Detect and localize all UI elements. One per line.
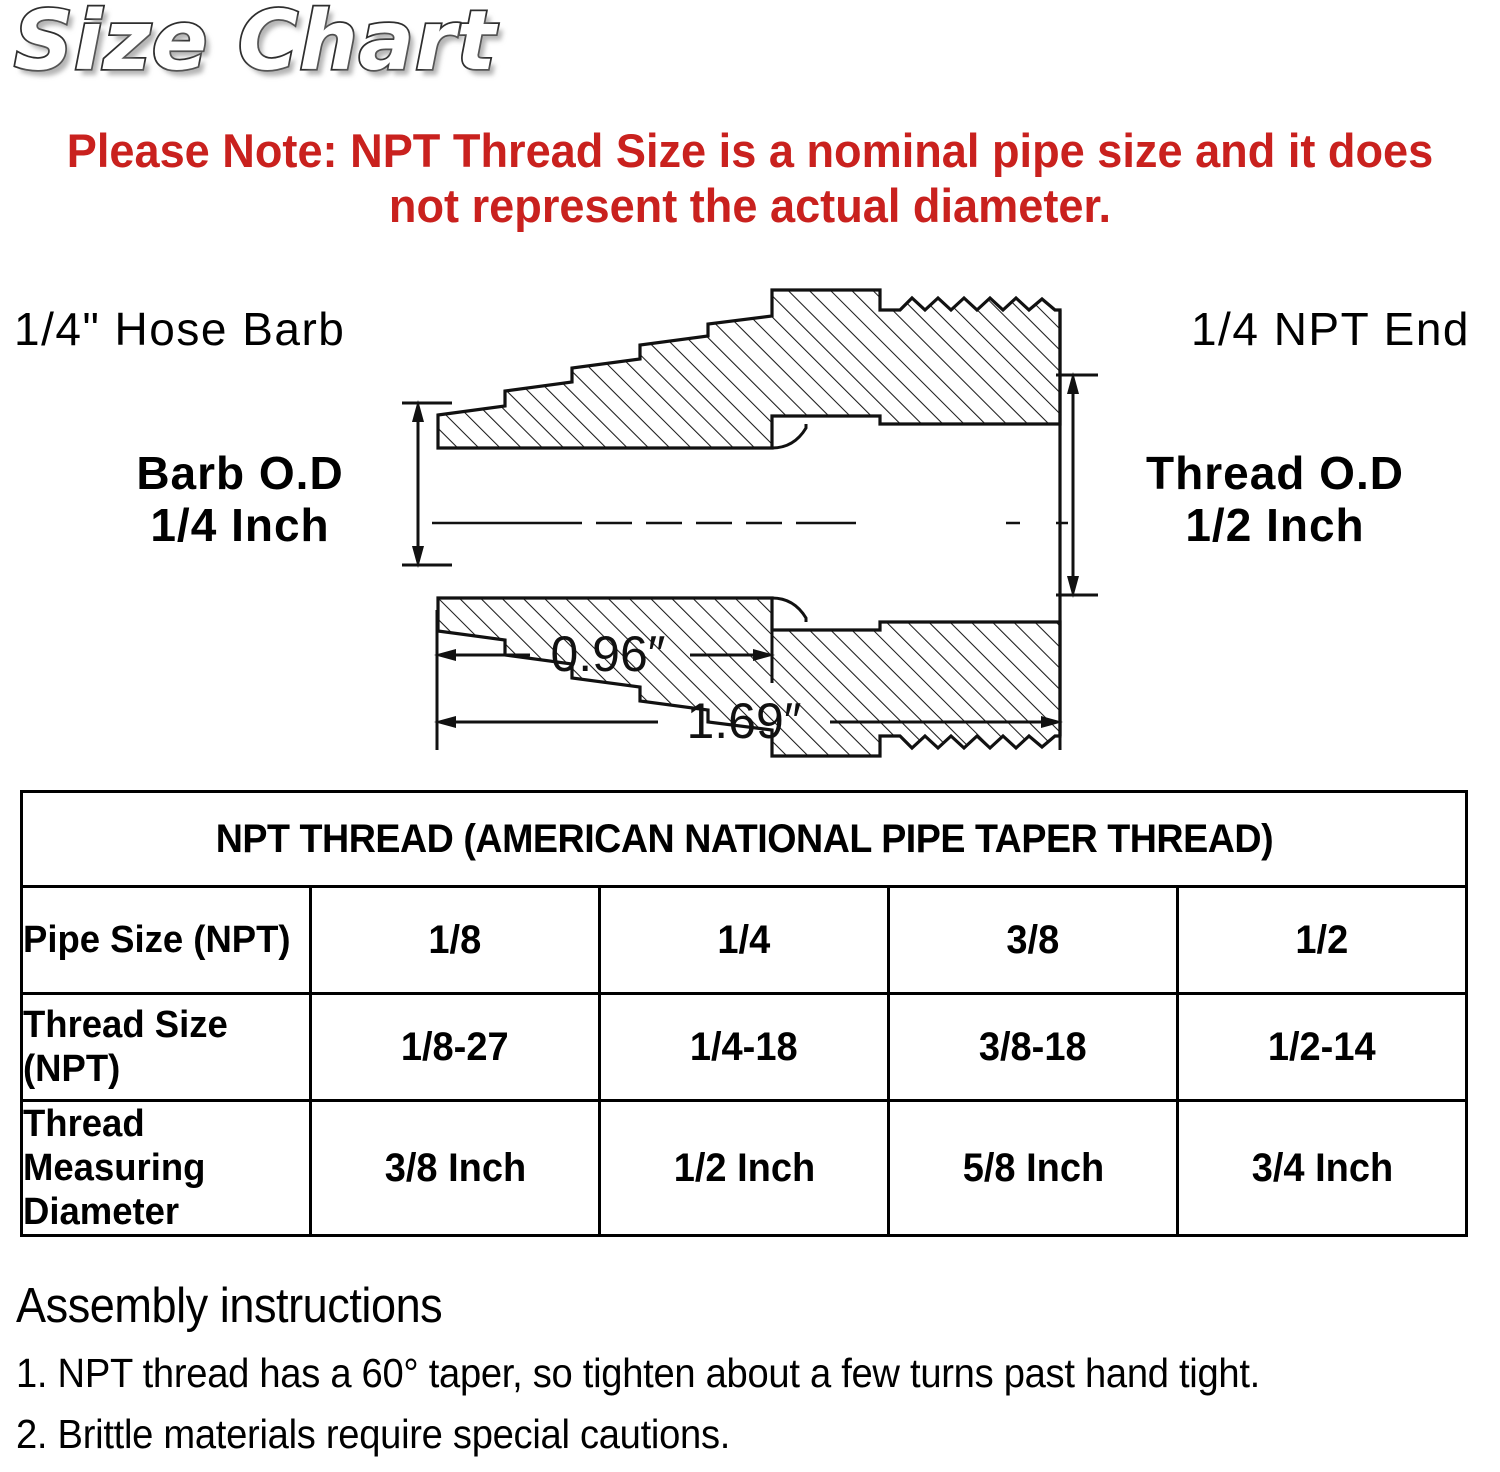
cell-pipe-size-3: 3/8 — [889, 887, 1178, 994]
warning-note: Please Note: NPT Thread Size is a nomina… — [30, 123, 1470, 234]
cell-pipe-size-4: 1/2 — [1178, 887, 1467, 994]
assembly-instructions-section: Assembly instructions 1. NPT thread has … — [16, 1278, 1486, 1472]
barb-length-text: 0.96″ — [550, 626, 665, 682]
fitting-upper-wall — [438, 290, 1060, 448]
table-row: Thread Measuring Diameter 3/8 Inch 1/2 I… — [22, 1101, 1467, 1236]
table-header-text: NPT THREAD (AMERICAN NATIONAL PIPE TAPER… — [215, 817, 1272, 862]
cell-measuring-diameter-1: 3/8 Inch — [311, 1101, 600, 1236]
cell-measuring-diameter-3: 5/8 Inch — [889, 1101, 1178, 1236]
warning-note-line-1: Please Note: NPT Thread Size is a nomina… — [30, 123, 1470, 178]
cell-pipe-size-2: 1/4 — [600, 887, 889, 994]
row-label-thread-measuring-diameter: Thread Measuring Diameter — [22, 1101, 311, 1236]
cell-thread-size-2: 1/4-18 — [600, 994, 889, 1101]
page-title: Size Chart — [14, 0, 497, 87]
row-label-thread-size: Thread Size (NPT) — [22, 994, 311, 1101]
table-header-cell: NPT THREAD (AMERICAN NATIONAL PIPE TAPER… — [22, 792, 1467, 887]
cell-measuring-diameter-4: 3/4 Inch — [1178, 1101, 1467, 1236]
assembly-step-2: 2. Brittle materials require special cau… — [16, 1411, 1383, 1458]
thread-od-dimension — [1056, 372, 1098, 598]
warning-note-line-2: not represent the actual diameter. — [30, 178, 1470, 233]
npt-thread-table: NPT THREAD (AMERICAN NATIONAL PIPE TAPER… — [20, 790, 1468, 1237]
row-label-pipe-size: Pipe Size (NPT) — [22, 887, 311, 994]
table-row: Pipe Size (NPT) 1/8 1/4 3/8 1/2 — [22, 887, 1467, 994]
npt-thread-table-wrapper: NPT THREAD (AMERICAN NATIONAL PIPE TAPER… — [20, 790, 1468, 1237]
cell-pipe-size-1: 1/8 — [311, 887, 600, 994]
overall-length-text: 1.69″ — [686, 693, 801, 749]
cell-thread-size-1: 1/8-27 — [311, 994, 600, 1101]
assembly-step-1: 1. NPT thread has a 60° taper, so tighte… — [16, 1350, 1383, 1397]
cell-measuring-diameter-2: 1/2 Inch — [600, 1101, 889, 1236]
fitting-diagram: 1/4" Hose Barb 1/4 NPT End Barb O.D 1/4 … — [0, 288, 1500, 758]
cell-thread-size-3: 3/8-18 — [889, 994, 1178, 1101]
assembly-instructions-heading: Assembly instructions — [16, 1278, 1368, 1334]
fitting-cross-section-drawing: 0.96″ 1.69″ — [0, 288, 1500, 758]
cell-thread-size-4: 1/2-14 — [1178, 994, 1467, 1101]
table-row: Thread Size (NPT) 1/8-27 1/4-18 3/8-18 1… — [22, 994, 1467, 1101]
